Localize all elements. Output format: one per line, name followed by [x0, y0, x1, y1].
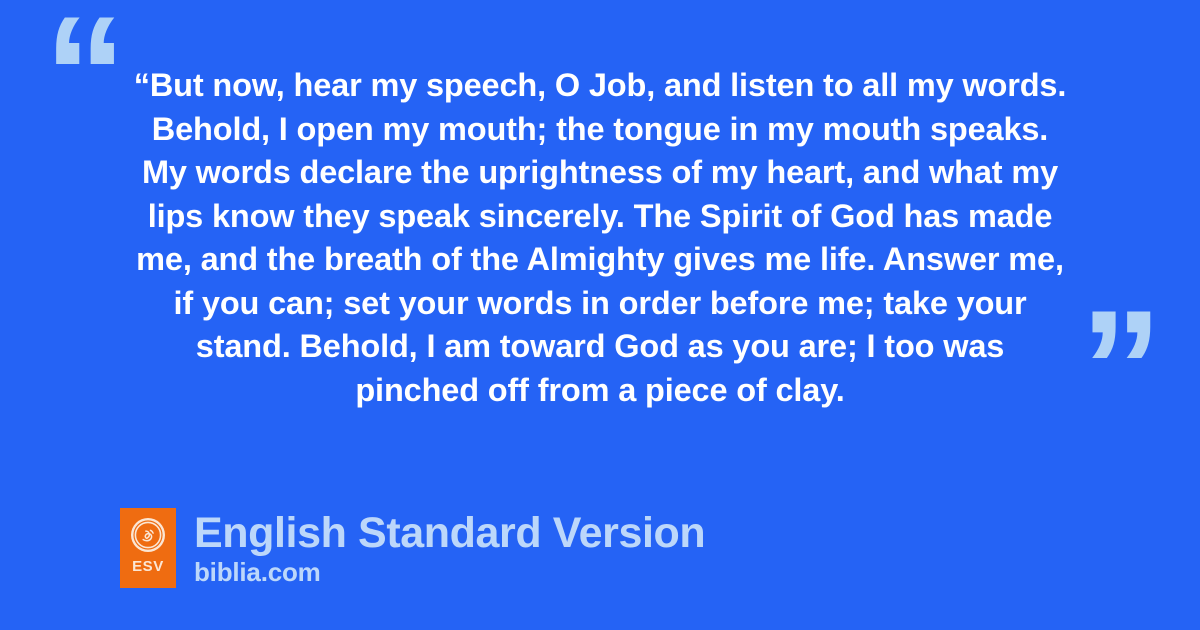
bible-verse-card: “ ” “But now, hear my speech, O Job, and…	[0, 0, 1200, 630]
esv-seal-icon	[130, 517, 166, 553]
esv-logo: ESV	[120, 508, 176, 588]
quote-block: “But now, hear my speech, O Job, and lis…	[100, 64, 1100, 412]
site-url[interactable]: biblia.com	[194, 557, 705, 587]
esv-logo-label: ESV	[132, 559, 164, 574]
attribution: ESV English Standard Version biblia.com	[120, 508, 705, 588]
bible-version-name: English Standard Version	[194, 510, 705, 556]
quote-text: “But now, hear my speech, O Job, and lis…	[100, 64, 1100, 412]
attribution-text: English Standard Version biblia.com	[194, 510, 705, 587]
